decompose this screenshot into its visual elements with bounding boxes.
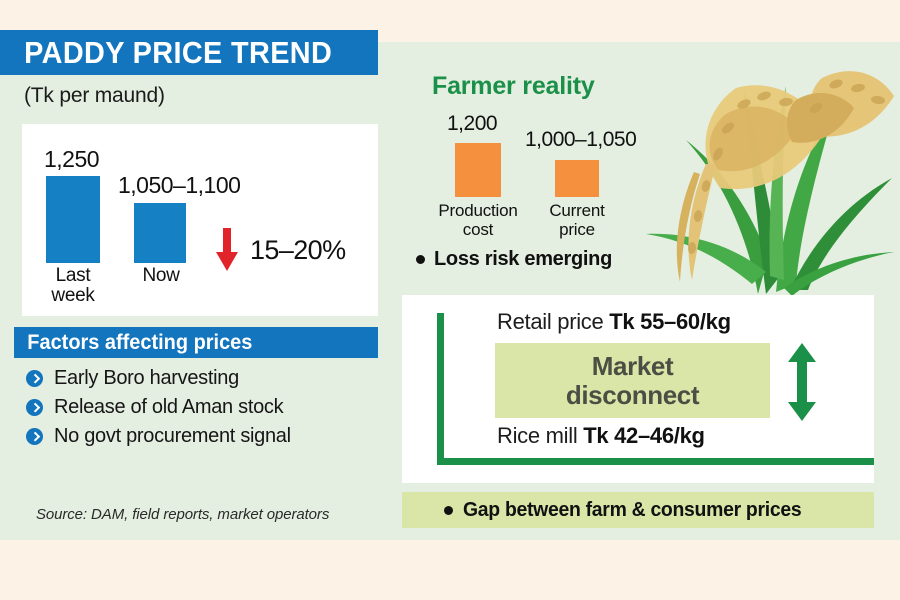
market-disconnect-text: Market disconnect	[566, 352, 699, 409]
paddy-price-chart: 1,250 Last week 1,050–1,100 Now 15–20%	[22, 124, 378, 316]
source-note: Source: DAM, field reports, market opera…	[36, 506, 329, 523]
bar-value-label: 1,250	[44, 146, 99, 173]
chevron-right-icon	[26, 399, 43, 416]
bar-label-last-week-line1: Last	[32, 266, 114, 286]
gap-note-bar: Gap between farm & consumer prices	[402, 492, 874, 528]
chevron-right-icon	[26, 370, 43, 387]
orange-bar-production-cost	[455, 143, 501, 197]
rice-plant-illustration	[640, 44, 900, 296]
factor-text: No govt procurement signal	[54, 425, 291, 448]
loss-risk-note: Loss risk emerging	[416, 248, 612, 271]
orange-bar-label-line2: price	[524, 221, 630, 239]
list-item: No govt procurement signal	[26, 422, 386, 451]
bar-label-now: Now	[120, 266, 202, 286]
orange-bar-label-line1: Production	[424, 202, 532, 220]
orange-bar-current-price	[555, 160, 599, 197]
farmer-reality-title: Farmer reality	[432, 72, 595, 101]
orange-bar-value-label: 1,200	[447, 112, 497, 136]
bar-rect-last-week	[46, 176, 100, 263]
orange-bar-label-line2: cost	[424, 221, 532, 239]
page-title-bar: PADDY PRICE TREND	[0, 30, 378, 75]
market-disconnect-line2: disconnect	[566, 381, 699, 410]
factor-text: Release of old Aman stock	[54, 396, 283, 419]
loss-risk-text: Loss risk emerging	[434, 248, 612, 271]
bracket-vertical	[437, 313, 444, 458]
double-vertical-arrow-icon	[785, 343, 819, 421]
rice-mill-label: Rice mill	[497, 423, 577, 448]
bullet-dot-icon	[416, 255, 425, 264]
market-disconnect-line1: Market	[566, 352, 699, 381]
orange-bar-label-line1: Current	[524, 202, 630, 220]
price-change-value: 15–20%	[250, 235, 346, 266]
retail-price-row: Retail price Tk 55–60/kg	[497, 309, 731, 335]
bar-label-last-week-line2: week	[32, 286, 114, 306]
unit-subtitle: (Tk per maund)	[24, 84, 165, 108]
market-disconnect-card: Retail price Tk 55–60/kg Market disconne…	[402, 295, 874, 483]
price-change-annotation: 15–20%	[214, 228, 346, 272]
bracket-horizontal	[437, 458, 874, 465]
retail-price-value: Tk 55–60/kg	[609, 309, 730, 334]
list-item: Early Boro harvesting	[26, 364, 386, 393]
rice-mill-price-row: Rice mill Tk 42–46/kg	[497, 423, 705, 449]
down-arrow-icon	[214, 228, 240, 272]
rice-mill-value: Tk 42–46/kg	[583, 423, 704, 448]
market-disconnect-highlight: Market disconnect	[495, 343, 770, 418]
page-title: PADDY PRICE TREND	[0, 35, 332, 71]
gap-note-text: Gap between farm & consumer prices	[463, 499, 801, 522]
bar-value-label: 1,050–1,100	[118, 172, 240, 199]
bullet-dot-icon	[444, 506, 453, 515]
factors-header: Factors affecting prices	[14, 331, 252, 355]
bar-rect-now	[134, 203, 186, 263]
factors-list: Early Boro harvesting Release of old Ama…	[26, 364, 386, 451]
infographic-canvas: PADDY PRICE TREND (Tk per maund) 1,250 L…	[0, 0, 900, 600]
factor-text: Early Boro harvesting	[54, 367, 239, 390]
factors-header-bar: Factors affecting prices	[14, 327, 378, 358]
orange-bar-value-label: 1,000–1,050	[525, 128, 636, 152]
retail-price-label: Retail price	[497, 309, 603, 334]
list-item: Release of old Aman stock	[26, 393, 386, 422]
chevron-right-icon	[26, 428, 43, 445]
